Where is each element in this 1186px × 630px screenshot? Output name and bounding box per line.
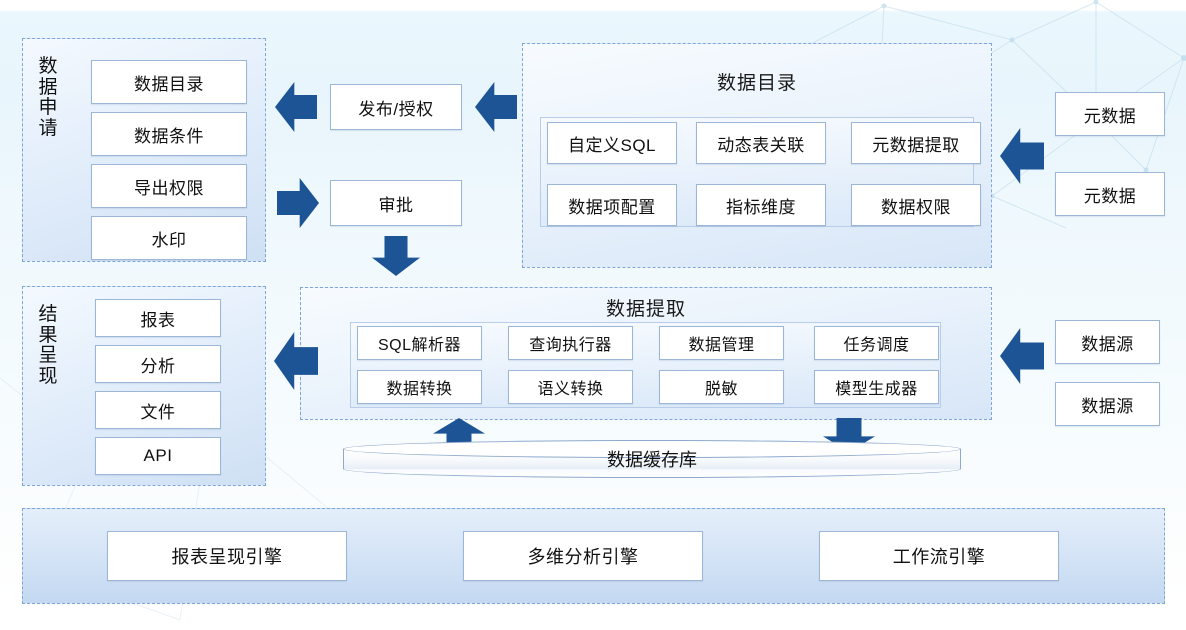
box-extract-0[interactable]: SQL解析器 — [357, 326, 482, 360]
box-engine-0[interactable]: 报表呈现引擎 — [107, 531, 347, 581]
cylinder-data-cache-label: 数据缓存库 — [343, 440, 961, 478]
box-publish-authorize[interactable]: 发布/授权 — [330, 84, 462, 130]
box-extract-7[interactable]: 模型生成器 — [814, 370, 939, 404]
arrow-left-catalog-icon — [475, 82, 517, 132]
box-metadata-0[interactable]: 元数据 — [1055, 92, 1165, 136]
arrow-down-approve-icon — [372, 236, 420, 276]
box-result-0[interactable]: 报表 — [95, 299, 221, 337]
box-metadata-1[interactable]: 元数据 — [1055, 172, 1165, 216]
box-datasource-0[interactable]: 数据源 — [1055, 320, 1160, 364]
panel-data-application-label: 数据申请 — [34, 57, 62, 139]
arrow-right-approve-icon — [277, 178, 319, 228]
box-extract-3[interactable]: 任务调度 — [814, 326, 939, 360]
box-catalog-5[interactable]: 数据权限 — [851, 184, 981, 226]
panel-data-extraction-title: 数据提取 — [300, 294, 992, 321]
box-apply-1[interactable]: 数据条件 — [91, 112, 247, 156]
box-result-2[interactable]: 文件 — [95, 391, 221, 429]
arrow-left-datasource-icon — [1000, 328, 1044, 384]
box-extract-4[interactable]: 数据转换 — [357, 370, 482, 404]
box-result-3[interactable]: API — [95, 437, 221, 475]
box-catalog-4[interactable]: 指标维度 — [696, 184, 826, 226]
box-engine-1[interactable]: 多维分析引擎 — [463, 531, 703, 581]
diagram-canvas: 数据申请 数据目录 数据条件 导出权限 水印 结果呈现 报表 分析 文件 API… — [0, 0, 1186, 630]
box-catalog-3[interactable]: 数据项配置 — [547, 184, 677, 226]
box-apply-0[interactable]: 数据目录 — [91, 60, 247, 104]
cylinder-data-cache: 数据缓存库 — [343, 440, 961, 478]
box-apply-3[interactable]: 水印 — [91, 216, 247, 260]
box-catalog-2[interactable]: 元数据提取 — [851, 122, 981, 164]
arrow-left-metadata-icon — [1000, 128, 1044, 184]
box-catalog-0[interactable]: 自定义SQL — [547, 122, 677, 164]
panel-result-presentation-label: 结果呈现 — [34, 305, 62, 387]
box-datasource-1[interactable]: 数据源 — [1055, 382, 1160, 426]
box-extract-2[interactable]: 数据管理 — [659, 326, 784, 360]
box-engine-2[interactable]: 工作流引擎 — [819, 531, 1059, 581]
box-extract-6[interactable]: 脱敏 — [659, 370, 784, 404]
box-apply-2[interactable]: 导出权限 — [91, 164, 247, 208]
box-approval[interactable]: 审批 — [330, 180, 462, 226]
box-extract-1[interactable]: 查询执行器 — [508, 326, 633, 360]
box-result-1[interactable]: 分析 — [95, 345, 221, 383]
box-catalog-1[interactable]: 动态表关联 — [696, 122, 826, 164]
box-extract-5[interactable]: 语义转换 — [508, 370, 633, 404]
panel-data-catalog-title: 数据目录 — [522, 68, 992, 95]
arrow-left-publish-icon — [275, 82, 317, 132]
